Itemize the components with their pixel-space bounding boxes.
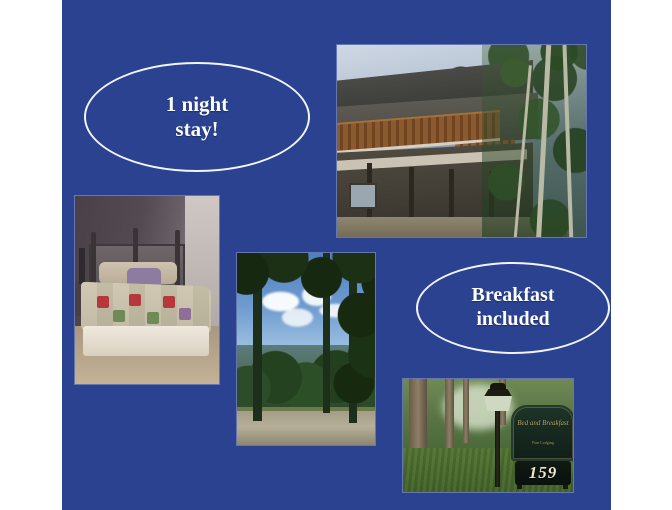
bed-skirt	[83, 326, 209, 356]
callout-line-2: included	[472, 308, 555, 332]
callout-breakfast-included: Breakfast included	[416, 262, 610, 354]
bedroom-photo	[75, 196, 219, 384]
sign-sub-text: Pine Lodging	[513, 440, 573, 445]
forest-driveway-photo	[237, 253, 375, 445]
bedroom-lamp	[79, 248, 85, 284]
quilt-patch	[129, 294, 141, 306]
pine-canopy-right	[323, 293, 375, 403]
quilt-patch	[163, 296, 175, 308]
tree-trunk	[463, 379, 469, 443]
lamp-cap	[490, 383, 506, 390]
address-plate: 159	[515, 461, 571, 485]
address-number: 159	[529, 463, 558, 483]
property-signboard: Bed and Breakfast Pine Lodging	[511, 405, 573, 461]
lodge-exterior-photo	[337, 45, 586, 237]
callout-line-1: Breakfast	[472, 284, 555, 308]
callout-one-night-stay: 1 night stay!	[84, 62, 310, 172]
tree-trunk	[445, 379, 454, 449]
callout-line-1: 1 night	[166, 92, 228, 117]
quilt-patch	[113, 310, 125, 322]
quilt-patch	[179, 308, 191, 320]
sign-script-text: Bed and Breakfast	[513, 419, 573, 427]
lamp-lantern-icon	[484, 389, 512, 411]
auction-item-collage: Bed and Breakfast Pine Lodging 159 1 nig…	[0, 0, 672, 510]
quilt-patch	[97, 296, 109, 308]
callout-breakfast-included-text: Breakfast included	[472, 284, 555, 331]
quilt-patch	[147, 312, 159, 324]
lodge-lower-window	[349, 183, 377, 209]
callout-one-night-stay-text: 1 night stay!	[166, 92, 228, 142]
lamp-post	[495, 399, 500, 487]
callout-line-2: stay!	[166, 117, 228, 142]
entrance-sign-photo: Bed and Breakfast Pine Lodging 159	[403, 379, 573, 492]
